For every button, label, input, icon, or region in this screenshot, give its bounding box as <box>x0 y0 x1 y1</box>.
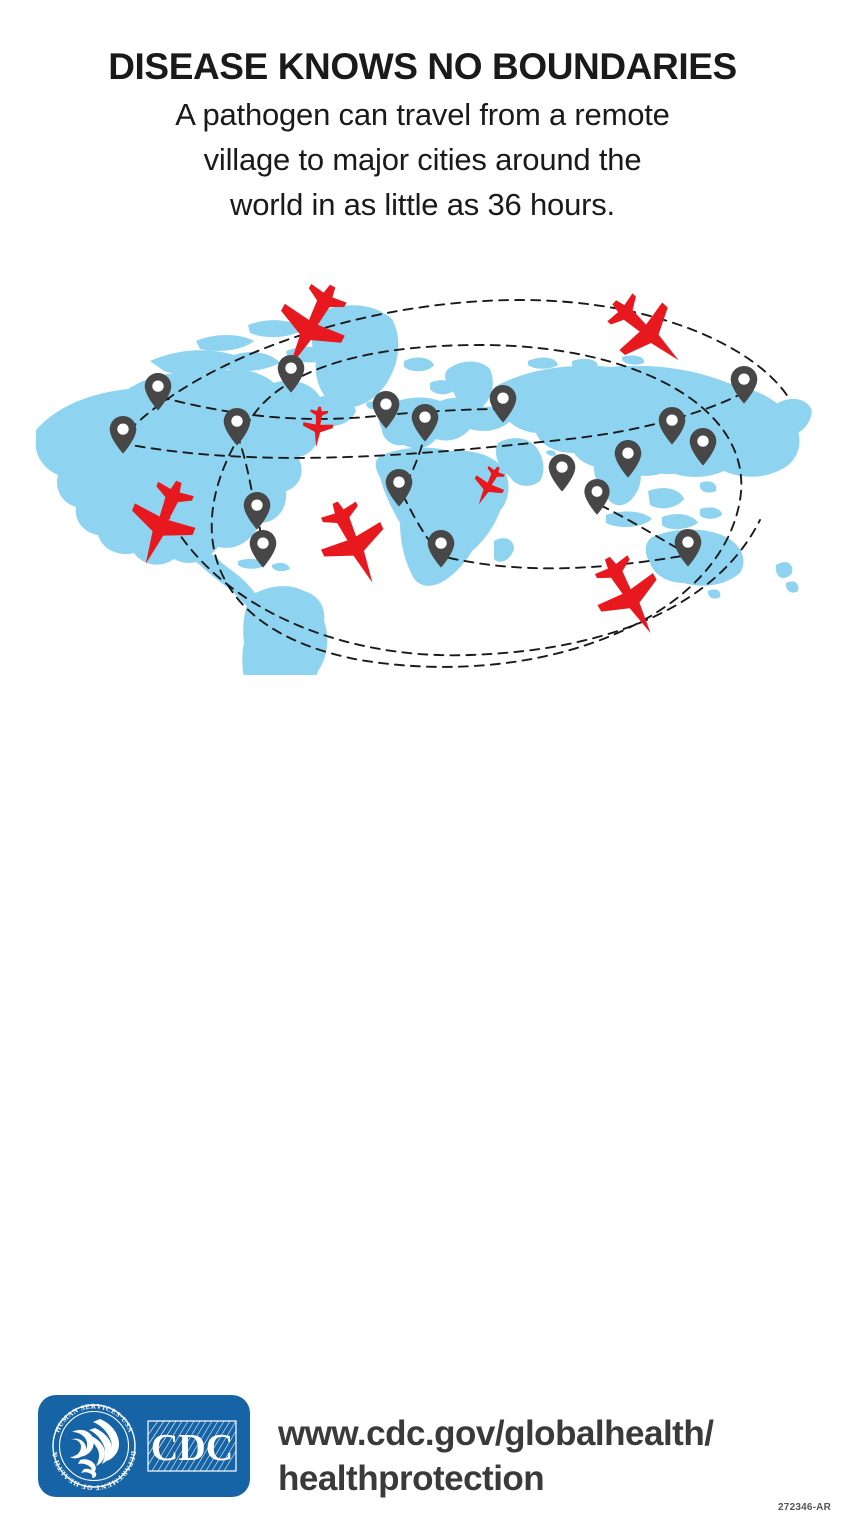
url-line-2: healthprotection <box>278 1457 818 1502</box>
world-map-illustration <box>0 265 845 675</box>
footer-bar: HUMAN SERVICES·USA DEPARTMENT OF HEALTH … <box>0 690 845 845</box>
route-asia-australia <box>600 505 688 554</box>
subtitle-line-1: A pathogen can travel from a remote <box>0 93 845 138</box>
poster-canvas: DISEASE KNOWS NO BOUNDARIES A pathogen c… <box>0 0 845 845</box>
headline-block: DISEASE KNOWS NO BOUNDARIES A pathogen c… <box>0 46 845 227</box>
map-landmasses <box>36 305 812 675</box>
page-title: DISEASE KNOWS NO BOUNDARIES <box>0 46 845 87</box>
cdc-wordmark: CDC <box>148 1421 236 1471</box>
pin-central-asia <box>549 454 576 492</box>
cdc-acronym-text: CDC <box>151 1427 233 1469</box>
url-line-1: www.cdc.gov/globalhealth/ <box>278 1412 818 1457</box>
publication-code: 272346-AR <box>778 1502 831 1513</box>
website-url[interactable]: www.cdc.gov/globalhealth/ healthprotecti… <box>278 1412 818 1502</box>
subtitle-line-2: village to major cities around the <box>0 138 845 183</box>
cdc-hhs-logo[interactable]: HUMAN SERVICES·USA DEPARTMENT OF HEALTH … <box>38 1395 250 1497</box>
plane-south-atlantic <box>306 489 402 597</box>
pin-southeast-asia <box>584 479 609 515</box>
hhs-seal-icon: HUMAN SERVICES·USA DEPARTMENT OF HEALTH … <box>51 1402 138 1491</box>
subtitle-line-3: world in as little as 36 hours. <box>0 183 845 228</box>
